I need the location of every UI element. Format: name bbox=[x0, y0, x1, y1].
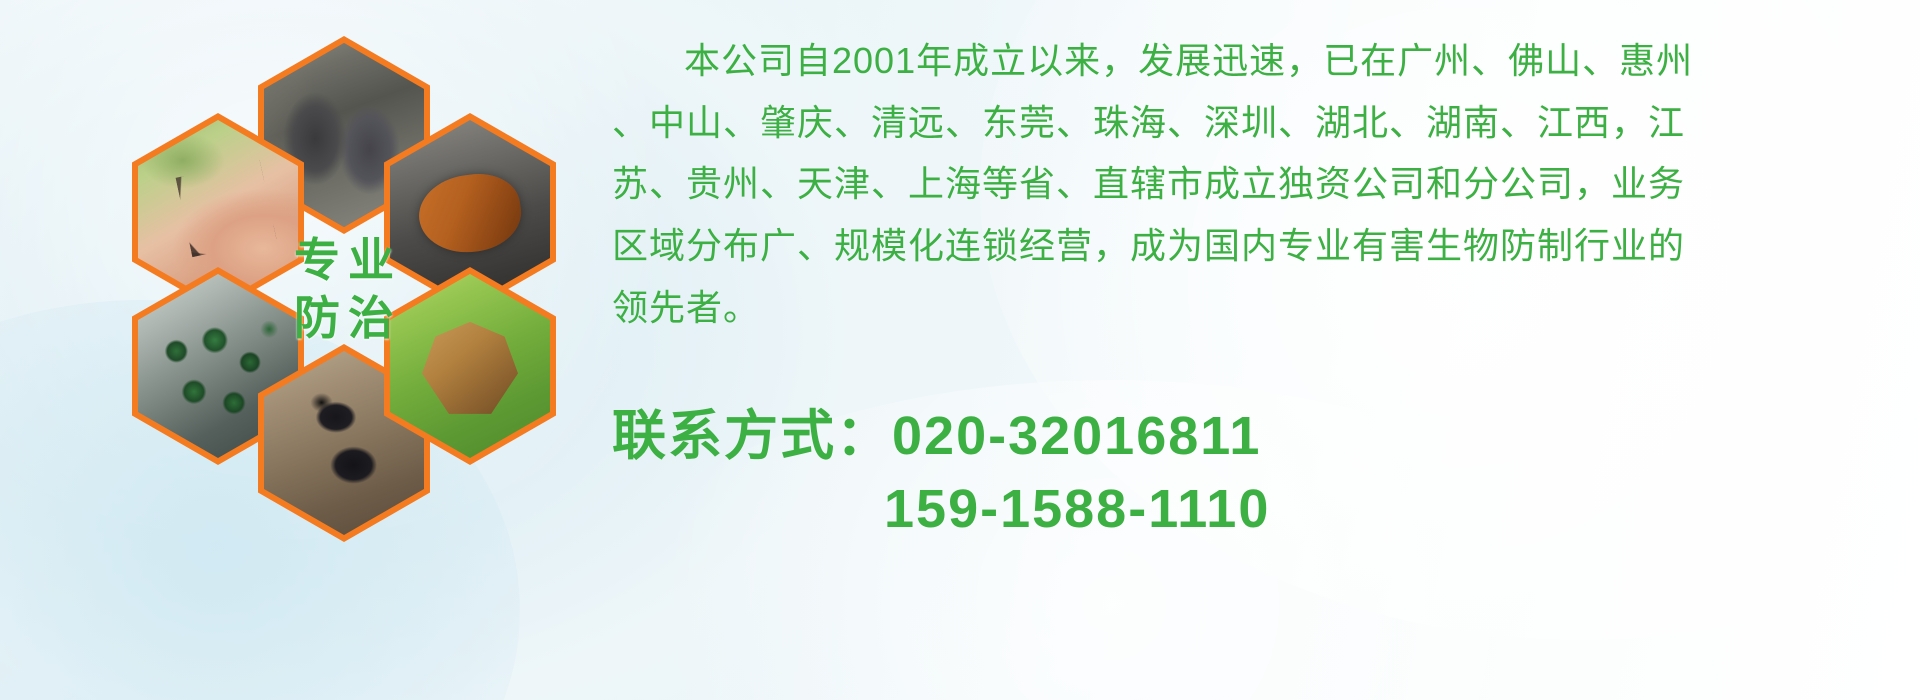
company-description: 本公司自2001年成立以来，发展迅速，已在广州、佛山、惠州 、中山、肇庆、清远、… bbox=[612, 34, 1912, 343]
contact-line-landline[interactable]: 联系方式：020-32016811 bbox=[612, 400, 1270, 473]
hexagon-label-line-1: 专业 bbox=[286, 236, 402, 284]
description-line-3: 苏、贵州、天津、上海等省、直辖市成立独资公司和分公司，业务 bbox=[612, 157, 1912, 212]
contact-block: 联系方式：020-32016811 159-1588-1110 bbox=[612, 400, 1270, 546]
hexagon-center-label: 专业 防治 bbox=[258, 190, 430, 388]
description-line-4: 区域分布广、规模化连锁经营，成为国内专业有害生物防制行业的 bbox=[612, 219, 1912, 274]
hexagon-photo-cluster: 专业 防治 bbox=[90, 10, 590, 570]
description-line-1: 本公司自2001年成立以来，发展迅速，已在广州、佛山、惠州 bbox=[612, 34, 1912, 89]
contact-line-mobile[interactable]: 159-1588-1110 bbox=[612, 473, 1270, 546]
description-line-2: 、中山、肇庆、清远、东莞、珠海、深圳、湖北、湖南、江西，江 bbox=[612, 96, 1912, 151]
hexagon-label-line-2: 防治 bbox=[286, 294, 402, 342]
description-line-5: 领先者。 bbox=[612, 281, 1912, 336]
pest-control-banner: 专业 防治 本公司自2001年成立以来，发展迅速，已在广州、佛山、惠州 、中山、… bbox=[0, 0, 1920, 700]
